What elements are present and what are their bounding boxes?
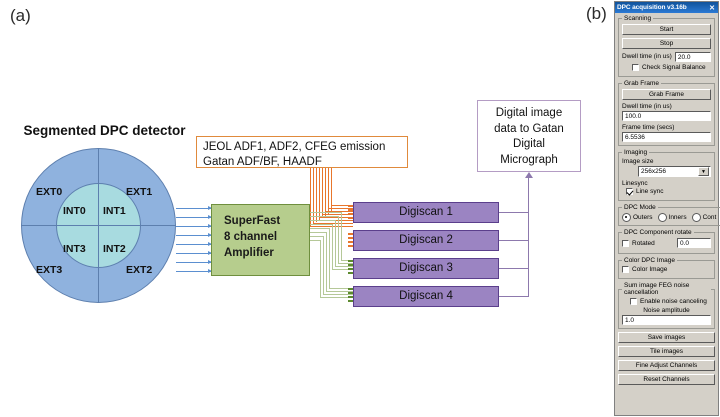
orange-bundle-line (316, 168, 317, 222)
output-line (499, 296, 529, 297)
rotated-label: Rotated (632, 240, 674, 247)
detector-signal-line (176, 226, 211, 227)
color-dpc-image-group: Color DPC Image Color Image (618, 257, 715, 279)
detector-segment-int1: INT1 (103, 205, 126, 217)
color-image-label: Color Image (632, 266, 667, 273)
note-line-2: Gatan ADF/BF, HAADF (203, 155, 407, 170)
green-bundle-line (320, 240, 321, 297)
output-line (499, 212, 529, 213)
green-bundle-line (310, 216, 339, 217)
digiscan-box-3: Digiscan 3 (353, 258, 499, 279)
close-icon[interactable]: ✕ (708, 4, 716, 12)
noise-legend: Sum image FEG noise cancellation (622, 282, 711, 296)
note-line-1: JEOL ADF1, ADF2, CFEG emission (203, 140, 407, 155)
detector-segment-ext0: EXT0 (36, 186, 62, 198)
rotated-checkbox[interactable] (622, 240, 629, 247)
chevron-down-icon[interactable]: ▼ (698, 167, 709, 176)
noise-amplitude-label: Noise amplitude (622, 307, 711, 314)
window-titlebar[interactable]: DPC acquisition v3.16b ✕ (615, 2, 718, 13)
line-sync-label: Line sync (636, 188, 663, 195)
output-trunk-line (528, 178, 529, 297)
green-bundle-line (341, 212, 342, 260)
system-block-diagram: Segmented DPC detector EXT0 EXT1 EXT3 EX… (0, 0, 612, 417)
rotate-angle-input[interactable]: 0.0 (677, 238, 711, 248)
digiscan-box-2: Digiscan 2 (353, 230, 499, 251)
scanning-dwell-time-input[interactable]: 20.0 (675, 52, 711, 62)
amplifier-line-2: 8 channel (224, 229, 309, 245)
dpc-mode-radio-outers[interactable] (622, 213, 631, 222)
detector-signal-line (176, 217, 211, 218)
noise-amplitude-input[interactable]: 1.0 (622, 315, 711, 325)
green-bundle-line (310, 228, 330, 229)
green-bundle-line (323, 236, 324, 294)
grab-frame-group: Grab Frame Grab Frame Dwell time (in us)… (618, 80, 715, 146)
green-bundle-line (326, 232, 327, 291)
output-line-1: Digital image (478, 106, 580, 122)
detector-segment-int0: INT0 (63, 205, 86, 217)
dpc-mode-label-outers: Outers (633, 214, 653, 221)
amplifier-line-1: SuperFast (224, 213, 309, 229)
digiscan-box-4: Digiscan 4 (353, 286, 499, 307)
fine-adjust-channels-button[interactable]: Fine Adjust Channels (618, 360, 715, 371)
orange-bundle-line (325, 168, 326, 216)
grab-dwell-time-label: Dwell time (in us) (622, 103, 711, 110)
check-signal-balance-checkbox[interactable] (632, 64, 639, 71)
output-line-2: data to Gatan (478, 122, 580, 138)
tile-images-button[interactable]: Tile images (618, 346, 715, 357)
save-images-button[interactable]: Save images (618, 332, 715, 343)
image-size-value: 256x256 (641, 168, 698, 175)
green-bundle-line (338, 216, 339, 263)
digiscan-box-1: Digiscan 1 (353, 202, 499, 223)
detector-signal-line (176, 235, 211, 236)
imaging-legend: Imaging (622, 149, 649, 156)
reset-channels-button[interactable]: Reset Channels (618, 374, 715, 385)
enable-noise-canceling-checkbox[interactable] (630, 298, 637, 305)
output-line (499, 240, 529, 241)
color-dpc-legend: Color DPC Image (622, 257, 677, 264)
frame-time-input[interactable]: 6.5536 (622, 132, 711, 142)
green-bundle-line (329, 228, 330, 288)
detector-segment-ext1: EXT1 (126, 186, 152, 198)
dpc-mode-radio-inners[interactable] (658, 213, 667, 222)
grab-frame-legend: Grab Frame (622, 80, 661, 87)
start-button[interactable]: Start (622, 24, 711, 35)
dpc-mode-group: DPC Mode Outers Inners Cont (618, 204, 720, 226)
window-title: DPC acquisition v3.16b (617, 4, 687, 11)
output-line-3: Digital (478, 137, 580, 153)
check-signal-balance-label: Check Signal Balance (642, 64, 706, 71)
digital-micrograph-output-box: Digital image data to Gatan Digital Micr… (477, 100, 581, 172)
dpc-acquisition-window: DPC acquisition v3.16b ✕ Scanning Start … (614, 1, 719, 416)
green-bundle-line (310, 232, 327, 233)
linesync-label: Linesync (622, 180, 711, 187)
green-bundle-line (310, 236, 324, 237)
image-size-label: Image size (622, 158, 711, 165)
detector-segment-ext2: EXT2 (126, 264, 152, 276)
output-line (499, 268, 529, 269)
stop-button[interactable]: Stop (622, 38, 711, 49)
dpc-mode-label-cont: Cont (703, 214, 717, 221)
scanning-legend: Scanning (622, 15, 653, 22)
image-size-select[interactable]: 256x256 ▼ (638, 166, 711, 177)
line-sync-checkbox[interactable] (626, 188, 633, 195)
scanning-dwell-time-label: Dwell time (in us) (622, 53, 672, 60)
green-bundle-line (310, 224, 333, 225)
grab-dwell-time-input[interactable]: 100.0 (622, 111, 711, 121)
detector-signal-line (176, 271, 211, 272)
scanning-group: Scanning Start Stop Dwell time (in us) 2… (618, 15, 715, 77)
dpc-mode-radio-cont[interactable] (692, 213, 701, 222)
orange-bundle-line (322, 168, 323, 218)
enable-noise-canceling-label: Enable noise canceling (640, 298, 707, 305)
detector-segment-int3: INT3 (63, 243, 86, 255)
detector-signal-line (176, 208, 211, 209)
dpc-mode-label-inners: Inners (669, 214, 687, 221)
detector-signal-line (176, 262, 211, 263)
green-bundle-line (335, 220, 336, 266)
feg-noise-cancellation-group: Sum image FEG noise cancellation Enable … (618, 282, 715, 329)
grab-frame-button[interactable]: Grab Frame (622, 89, 711, 100)
detector-signal-line (176, 253, 211, 254)
amplifier-line-3: Amplifier (224, 245, 309, 261)
frame-time-label: Frame time (secs) (622, 124, 711, 131)
signal-source-note-box: JEOL ADF1, ADF2, CFEG emission Gatan ADF… (196, 136, 408, 168)
color-image-checkbox[interactable] (622, 266, 629, 273)
dpc-mode-legend: DPC Mode (622, 204, 658, 211)
dpc-rotate-legend: DPC Component rotate (622, 229, 694, 236)
green-bundle-line (332, 224, 333, 269)
detector-signal-line (176, 244, 211, 245)
detector-segment-ext3: EXT3 (36, 264, 62, 276)
output-line-4: Micrograph (478, 153, 580, 169)
output-arrow-icon (525, 172, 533, 178)
green-bundle-line (310, 212, 342, 213)
superfast-amplifier-box: SuperFast 8 channel Amplifier (211, 204, 310, 276)
imaging-group: Imaging Image size 256x256 ▼ Linesync Li… (618, 149, 715, 201)
dpc-component-rotate-group: DPC Component rotate Rotated 0.0 (618, 229, 715, 254)
detector-title: Segmented DPC detector (17, 123, 192, 138)
detector-segment-int2: INT2 (103, 243, 126, 255)
detector-horizontal-divider (21, 225, 176, 226)
green-bundle-line (310, 220, 336, 221)
